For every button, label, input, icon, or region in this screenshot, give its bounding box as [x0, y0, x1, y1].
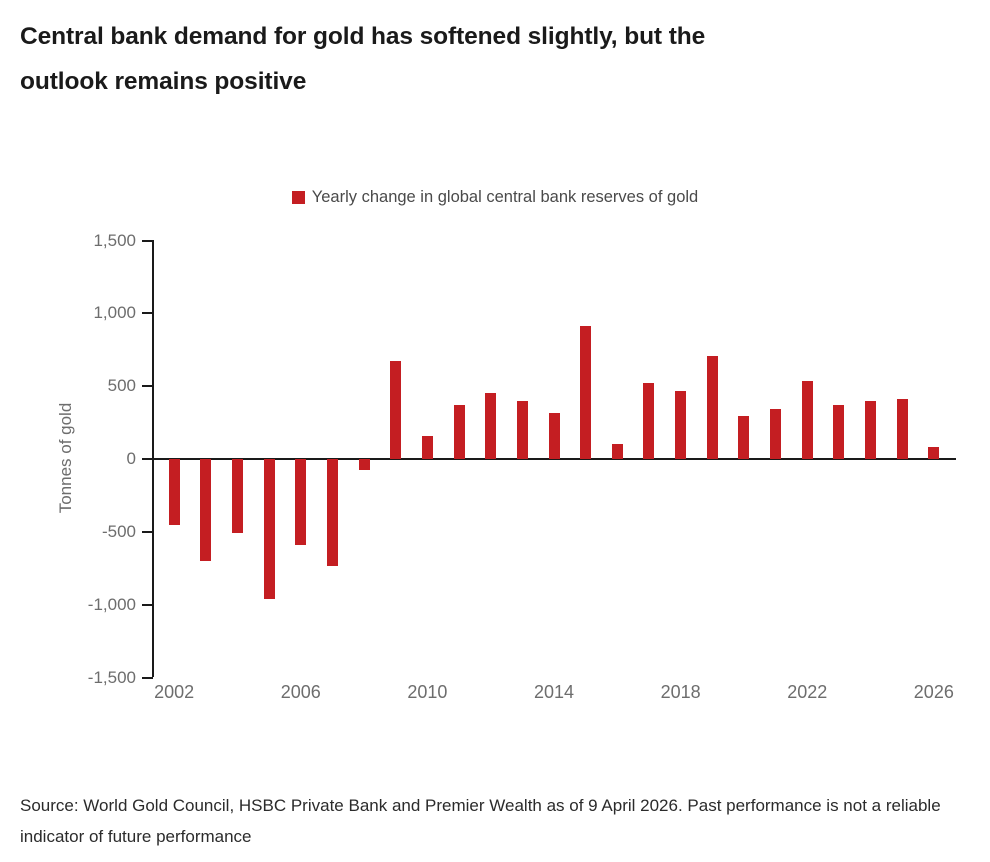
- y-tick-label: 0: [32, 449, 136, 469]
- y-tick-mark: [142, 531, 153, 533]
- bar: [897, 399, 908, 459]
- bar: [232, 459, 243, 533]
- source-note: Source: World Gold Council, HSBC Private…: [20, 790, 980, 852]
- bar: [612, 444, 623, 459]
- bar: [770, 409, 781, 459]
- y-tick-label: -500: [32, 522, 136, 542]
- bar: [454, 405, 465, 459]
- bar: [643, 383, 654, 459]
- bar: [738, 416, 749, 459]
- bar: [422, 436, 433, 459]
- y-tick-mark: [142, 240, 153, 242]
- y-tick-label: 1,500: [32, 231, 136, 251]
- bar: [517, 401, 528, 459]
- y-tick-label: 500: [32, 376, 136, 396]
- x-tick-label: 2018: [641, 682, 721, 703]
- bar: [485, 393, 496, 459]
- bar: [928, 447, 939, 459]
- bar-chart: Tonnes of gold 1,5001,0005000-500-1,000-…: [0, 0, 990, 862]
- bar: [359, 459, 370, 470]
- y-tick-mark: [142, 458, 153, 460]
- x-tick-label: 2006: [261, 682, 341, 703]
- y-tick-mark: [142, 604, 153, 606]
- x-tick-label: 2026: [894, 682, 974, 703]
- bar: [833, 405, 844, 459]
- bar: [264, 459, 275, 599]
- bar: [865, 401, 876, 459]
- bar: [675, 391, 686, 459]
- bar: [707, 356, 718, 459]
- bar: [295, 459, 306, 545]
- y-tick-label: -1,500: [32, 668, 136, 688]
- bar: [802, 381, 813, 459]
- bar: [390, 361, 401, 459]
- y-tick-label: -1,000: [32, 595, 136, 615]
- bar: [549, 413, 560, 459]
- x-tick-label: 2010: [387, 682, 467, 703]
- y-tick-mark: [142, 385, 153, 387]
- bar: [169, 459, 180, 525]
- y-tick-mark: [142, 312, 153, 314]
- bar: [327, 459, 338, 566]
- y-tick-mark: [142, 677, 153, 679]
- x-tick-label: 2014: [514, 682, 594, 703]
- chart-page: Central bank demand for gold has softene…: [0, 0, 990, 862]
- y-tick-label: 1,000: [32, 303, 136, 323]
- x-tick-label: 2002: [134, 682, 214, 703]
- x-tick-label: 2022: [767, 682, 847, 703]
- bar: [580, 326, 591, 459]
- bar: [200, 459, 211, 561]
